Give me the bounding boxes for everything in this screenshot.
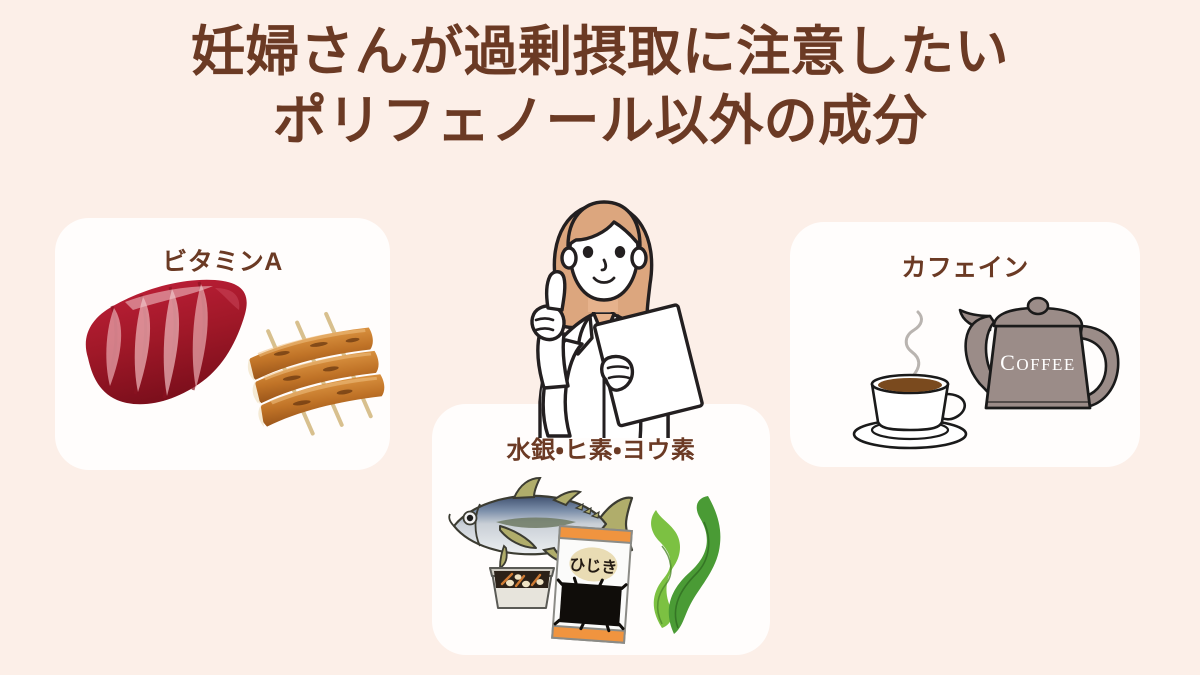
title-line-2: ポリフェノール以外の成分	[0, 87, 1200, 156]
coffee-cup-icon	[854, 375, 966, 448]
coffee-pot-text: COFFEE	[1000, 350, 1076, 375]
kelp-seaweed-icon	[651, 496, 720, 634]
card-caffeine[interactable]: カフェイン	[790, 222, 1140, 467]
card-vitamin-a-label: ビタミンA	[55, 242, 390, 278]
presenter-illustration	[478, 188, 728, 438]
hijiki-package-text: ひじき	[569, 556, 618, 577]
slide-canvas: 妊婦さんが過剰摂取に注意したい ポリフェノール以外の成分 ビタミンA	[0, 0, 1200, 675]
hijiki-package-icon: ひじき	[552, 526, 632, 643]
tuna-fish-icon	[449, 478, 632, 568]
card-vitamin-a[interactable]: ビタミンA	[55, 218, 390, 470]
page-title: 妊婦さんが過剰摂取に注意したい ポリフェノール以外の成分	[0, 18, 1200, 155]
title-line-1: 妊婦さんが過剰摂取に注意したい	[0, 18, 1200, 87]
card-mercury-arsenic-iodine[interactable]: 水銀・ヒ素・ヨウ素	[432, 404, 770, 655]
hijiki-bowl-icon	[490, 568, 554, 608]
coffee-pot-icon: COFFEE	[960, 298, 1118, 408]
card-caffeine-label: カフェイン	[790, 248, 1140, 284]
liver-icon	[86, 280, 247, 405]
steam-icon	[906, 312, 921, 377]
grilled-eel-icon	[241, 307, 389, 442]
